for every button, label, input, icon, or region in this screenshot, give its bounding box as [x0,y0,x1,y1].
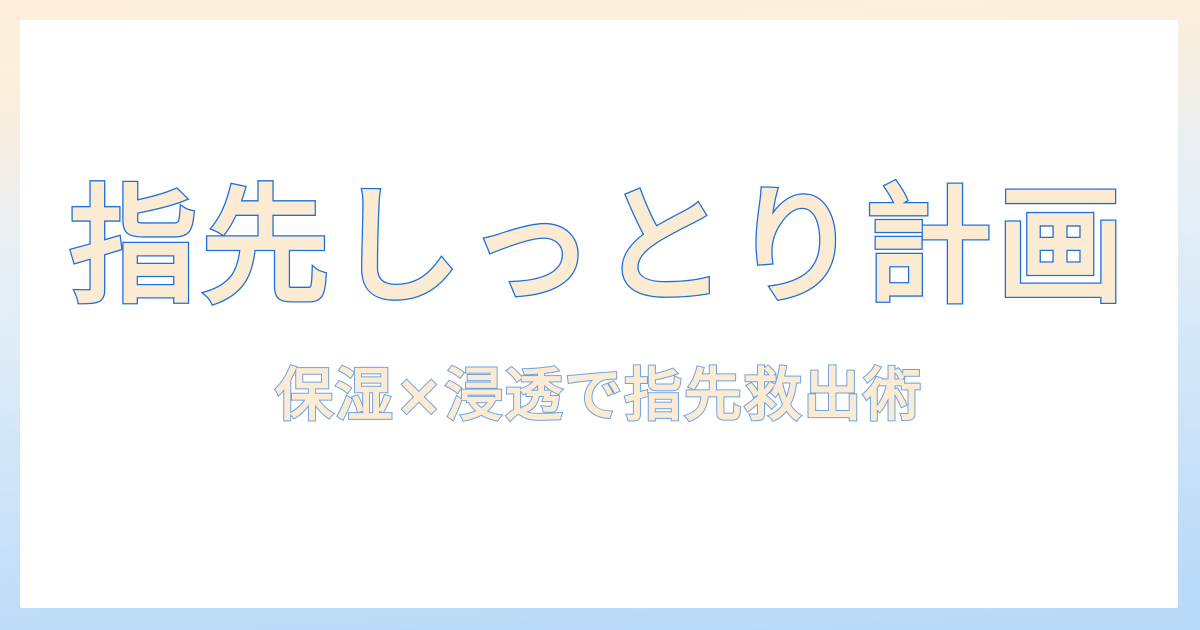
text-stack: 指先しっとり計画 保湿×浸透で指先救出術 [20,20,1178,608]
subtitle-row: 保湿×浸透で指先救出術 [275,361,923,431]
title-row: 指先しっとり計画 [69,176,1129,319]
white-content-card: 指先しっとり計画 保湿×浸透で指先救出術 [20,20,1178,608]
page-subtitle: 保湿×浸透で指先救出術 [275,361,923,431]
banner-canvas: 指先しっとり計画 保湿×浸透で指先救出術 [0,0,1200,630]
page-title: 指先しっとり計画 [69,176,1129,319]
